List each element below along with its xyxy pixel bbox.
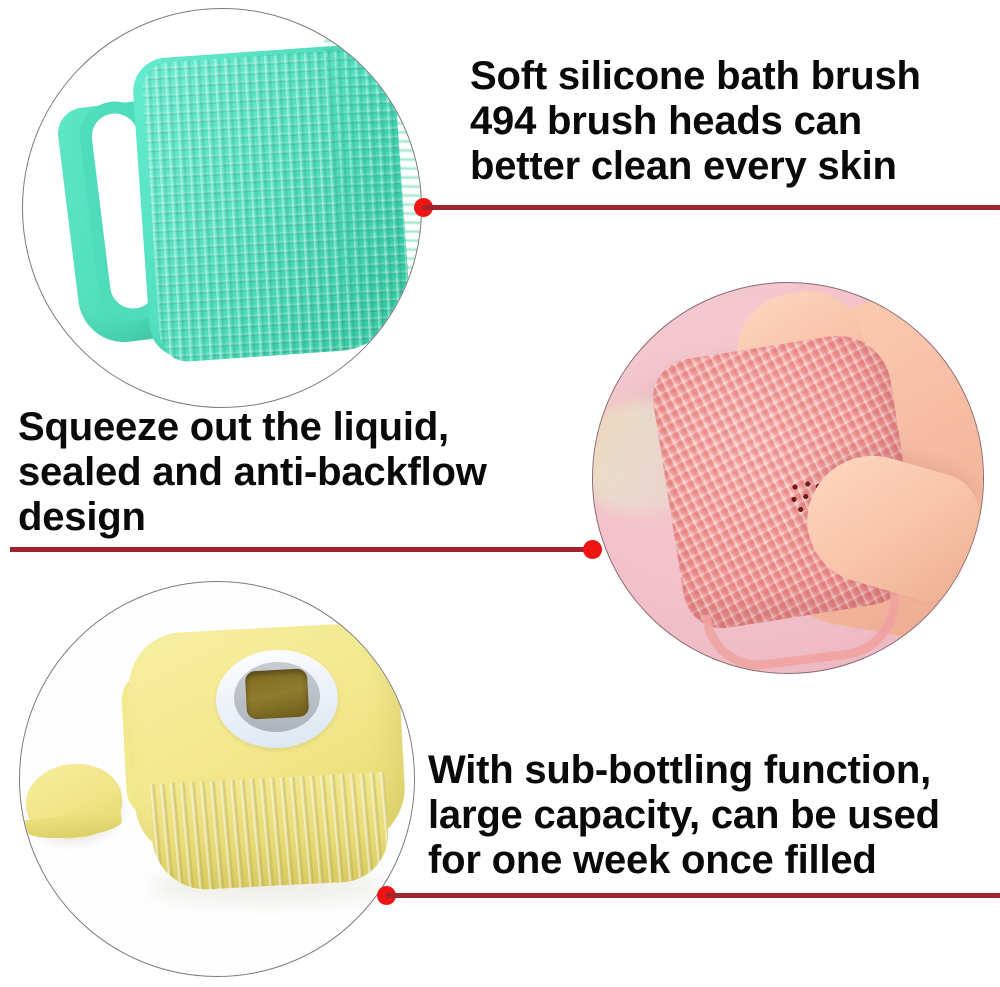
product-image-yellow-brush	[19, 581, 415, 977]
infographic-poster: Soft silicone bath brush 494 brush heads…	[0, 0, 1000, 987]
product-image-pink-brush-in-hand	[592, 282, 984, 674]
feature-text-2: Squeeze out the liquid, sealed and anti-…	[18, 405, 598, 539]
yellow-brush-bristles	[149, 772, 390, 892]
yellow-brush-dispenser-opening	[245, 668, 309, 719]
connector-line-1	[423, 205, 1000, 210]
connector-line-3	[386, 893, 1000, 898]
connector-line-2	[10, 547, 592, 552]
connector-dot-2	[583, 540, 602, 559]
feature-text-3: With sub-bottling function, large capaci…	[428, 748, 1000, 882]
teal-brush-bristle-tips	[324, 32, 422, 300]
product-image-teal-brush	[22, 8, 422, 408]
feature-text-1: Soft silicone bath brush 494 brush heads…	[470, 54, 990, 188]
teal-brush-illustration	[23, 9, 421, 407]
